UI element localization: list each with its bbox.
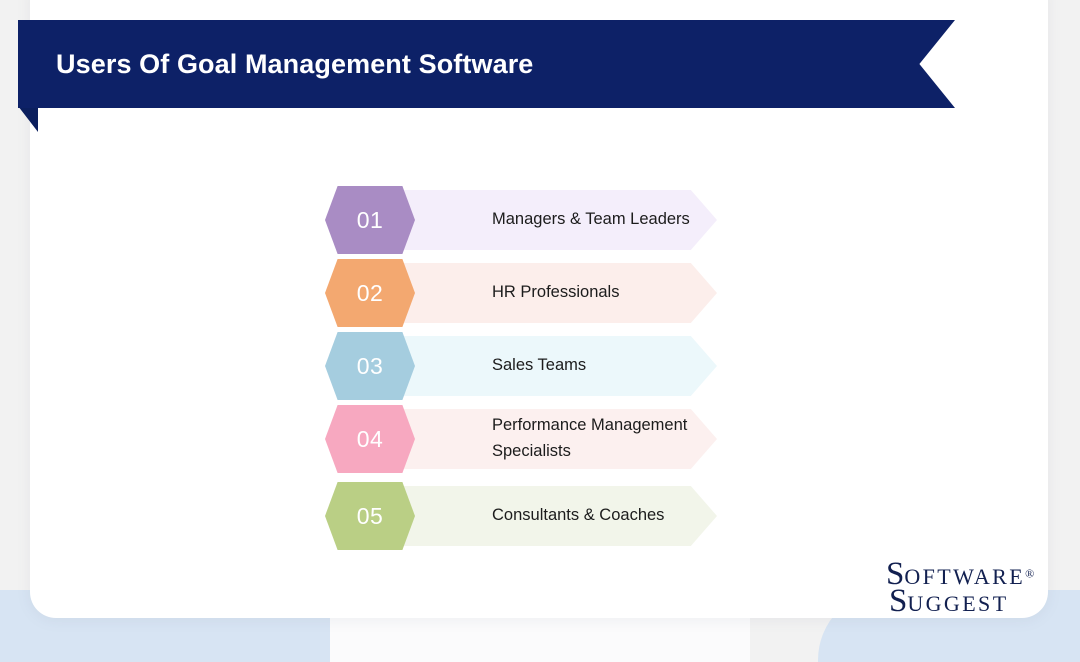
- logo-word-suggest: UGGEST: [907, 591, 1008, 616]
- registered-trademark-icon: ®: [1025, 567, 1034, 581]
- list-item-badge: 02: [325, 259, 415, 327]
- list-item-badge: 05: [325, 482, 415, 550]
- softwaresuggest-logo[interactable]: SOFTWARE® SUGGEST: [886, 558, 1036, 616]
- list-item-number: 03: [357, 353, 384, 380]
- list-item-label: HR Professionals: [492, 280, 627, 306]
- page-title: Users Of Goal Management Software: [56, 49, 533, 80]
- users-list: Managers & Team Leaders 01 HR Profession…: [325, 186, 725, 555]
- background-shape-middle: [330, 612, 750, 662]
- list-item-banner: Managers & Team Leaders: [390, 190, 717, 250]
- list-item[interactable]: Managers & Team Leaders 01: [325, 186, 725, 254]
- list-item-label: Consultants & Coaches: [492, 503, 672, 529]
- logo-line-two: SUGGEST: [889, 585, 1036, 618]
- list-item-badge: 01: [325, 186, 415, 254]
- list-item-number: 05: [357, 503, 384, 530]
- list-item-banner: Performance Management Specialists: [390, 409, 717, 469]
- list-item-banner: HR Professionals: [390, 263, 717, 323]
- list-item-badge: 04: [325, 405, 415, 473]
- list-item-number: 01: [357, 207, 384, 234]
- list-item-badge: 03: [325, 332, 415, 400]
- list-item-label: Managers & Team Leaders: [492, 207, 698, 233]
- list-item[interactable]: Consultants & Coaches 05: [325, 482, 725, 550]
- list-item[interactable]: HR Professionals 02: [325, 259, 725, 327]
- logo-cap-s-second: S: [889, 583, 907, 619]
- list-item-label: Sales Teams: [492, 353, 594, 379]
- list-item[interactable]: Sales Teams 03: [325, 332, 725, 400]
- list-item-number: 04: [357, 426, 384, 453]
- list-item-number: 02: [357, 280, 384, 307]
- list-item-banner: Consultants & Coaches: [390, 486, 717, 546]
- list-item[interactable]: Performance Management Specialists 04: [325, 405, 725, 477]
- list-item-label: Performance Management Specialists: [492, 413, 717, 464]
- slide-canvas: Users Of Goal Management Software Manage…: [0, 0, 1080, 662]
- list-item-banner: Sales Teams: [390, 336, 717, 396]
- title-banner: Users Of Goal Management Software: [18, 20, 955, 108]
